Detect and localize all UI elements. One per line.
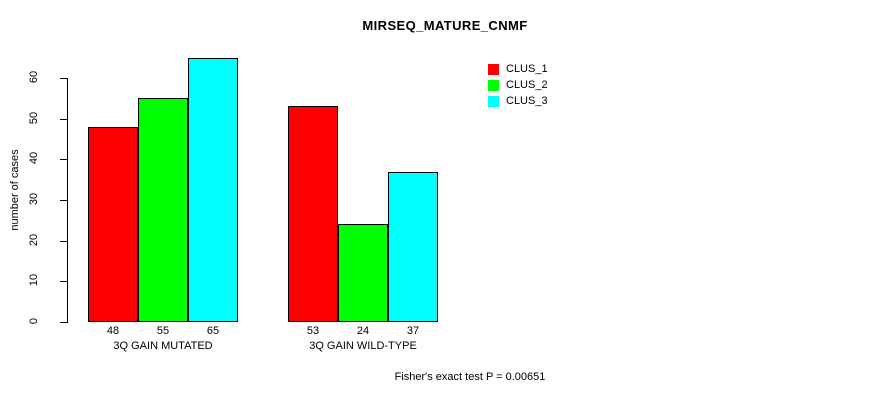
- y-axis-line: [67, 78, 68, 323]
- y-axis-tick-label: 0: [28, 301, 40, 341]
- bar-value-label: 37: [388, 325, 438, 337]
- legend-item: CLUS_3: [488, 94, 548, 108]
- legend-swatch-icon: [488, 80, 499, 91]
- bar-value-label: 55: [138, 325, 188, 337]
- bar: [338, 224, 388, 322]
- bar: [388, 172, 438, 322]
- y-axis-tick: [60, 159, 67, 160]
- y-axis-tick-label: 10: [28, 260, 40, 300]
- y-axis-title: number of cases: [9, 135, 21, 245]
- group-label: 3Q GAIN MUTATED: [53, 340, 273, 352]
- y-axis-tick: [60, 78, 67, 79]
- y-axis-tick: [60, 241, 67, 242]
- y-axis-tick: [60, 322, 67, 323]
- bar: [138, 98, 188, 322]
- bar: [288, 106, 338, 322]
- bar-value-label: 48: [88, 325, 138, 337]
- legend-item-label: CLUS_1: [506, 64, 548, 75]
- bar: [88, 127, 138, 322]
- y-axis-tick: [60, 281, 67, 282]
- legend: CLUS_1CLUS_2CLUS_3: [488, 62, 548, 110]
- y-axis-tick-label: 20: [28, 220, 40, 260]
- y-axis-tick-label: 60: [28, 57, 40, 97]
- y-axis-tick: [60, 200, 67, 201]
- statistic-annotation: Fisher's exact test P = 0.00651: [280, 371, 660, 383]
- y-axis-tick: [60, 119, 67, 120]
- chart-canvas: MIRSEQ_MATURE_CNMF 0102030405060 number …: [0, 0, 890, 400]
- legend-swatch-icon: [488, 64, 499, 75]
- legend-item-label: CLUS_3: [506, 96, 548, 107]
- legend-swatch-icon: [488, 96, 499, 107]
- y-axis-tick-label: 50: [28, 98, 40, 138]
- plot-area: 0102030405060 number of cases 4855655324…: [0, 0, 890, 400]
- legend-item: CLUS_2: [488, 78, 548, 92]
- y-axis-tick-label: 30: [28, 179, 40, 219]
- group-label: 3Q GAIN WILD-TYPE: [253, 340, 473, 352]
- bar-value-label: 53: [288, 325, 338, 337]
- legend-item-label: CLUS_2: [506, 80, 548, 91]
- bar: [188, 58, 238, 322]
- bar-value-label: 24: [338, 325, 388, 337]
- bar-value-label: 65: [188, 325, 238, 337]
- y-axis-tick-label: 40: [28, 138, 40, 178]
- legend-item: CLUS_1: [488, 62, 548, 76]
